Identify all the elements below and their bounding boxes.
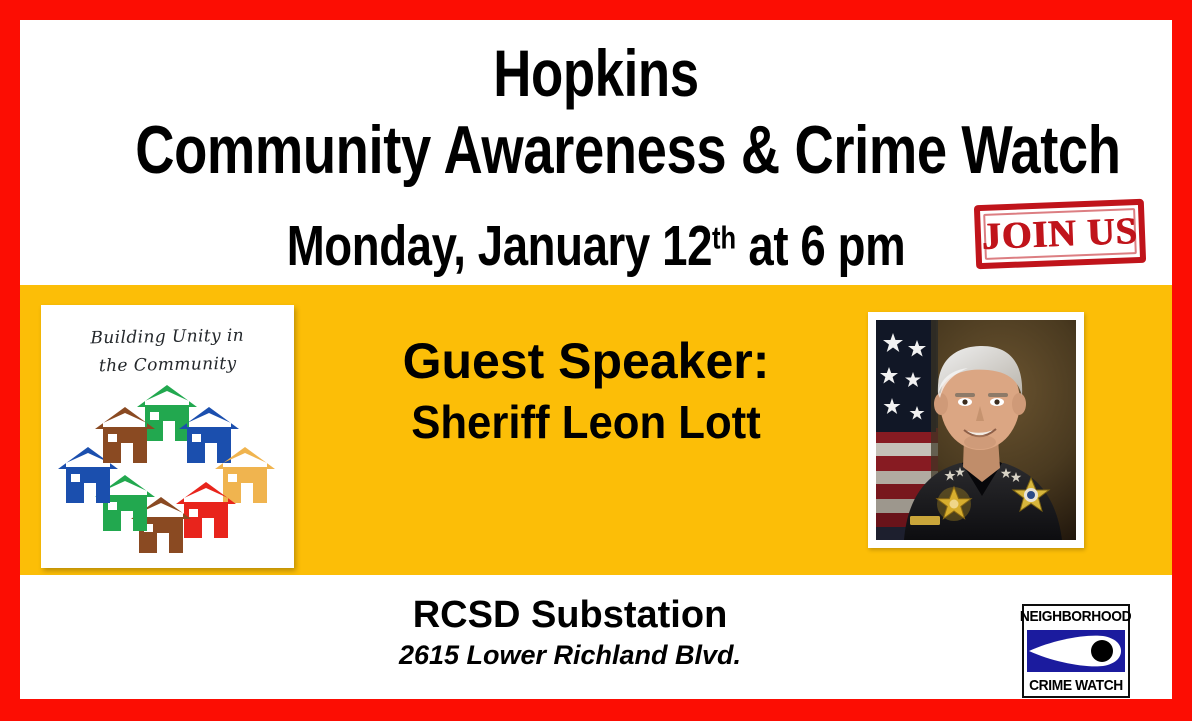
guest-speaker-label: Guest Speaker: <box>316 335 856 388</box>
flyer-canvas: Hopkins Community Awareness & Crime Watc… <box>20 20 1172 699</box>
footer-section: RCSD Substation 2615 Lower Richland Blvd… <box>20 575 1172 699</box>
crime-watch-top-text: NEIGHBORHOOD <box>1020 609 1131 624</box>
flyer-poster: Hopkins Community Awareness & Crime Watc… <box>0 0 1192 721</box>
event-datetime: Monday, January 12th at 6 pm <box>135 218 1057 275</box>
event-date-ordinal: th <box>712 219 736 255</box>
event-time-suffix: at 6 pm <box>736 214 905 278</box>
sheriff-star-badge <box>937 487 971 521</box>
community-logo-tagline-line-1: Building Unity in <box>41 321 294 353</box>
join-us-stamp: JOIN US <box>974 199 1146 269</box>
guest-speaker-block: Guest Speaker: Sheriff Leon Lott <box>316 335 856 446</box>
neighborhood-crime-watch-logo: NEIGHBORHOOD CRIME WATCH <box>1022 604 1130 698</box>
event-title-line-2: Community Awareness & Crime Watch <box>135 116 1057 184</box>
community-logo-tagline-line-2: the Community <box>41 349 294 381</box>
join-us-stamp-label: JOIN US <box>974 199 1146 269</box>
crime-watch-eye-icon <box>1027 630 1125 672</box>
house-ring-graphic <box>55 385 280 560</box>
highlight-band: Building Unity in the Community <box>20 285 1172 575</box>
event-title-line-1: Hopkins <box>135 40 1057 106</box>
crime-watch-bottom-text: CRIME WATCH <box>1029 678 1123 693</box>
venue-block: RCSD Substation 2615 Lower Richland Blvd… <box>200 595 940 670</box>
guest-speaker-name: Sheriff Leon Lott <box>330 398 843 446</box>
event-date-prefix: Monday, January 12 <box>287 214 712 278</box>
header-section: Hopkins Community Awareness & Crime Watc… <box>20 20 1172 285</box>
guest-speaker-photo-frame <box>868 312 1084 548</box>
guest-speaker-photo <box>876 320 1076 540</box>
venue-address: 2615 Lower Richland Blvd. <box>200 641 940 671</box>
community-logo-tagline: Building Unity in the Community <box>41 321 294 381</box>
venue-name: RCSD Substation <box>200 595 940 637</box>
community-logo-card: Building Unity in the Community <box>41 305 294 568</box>
